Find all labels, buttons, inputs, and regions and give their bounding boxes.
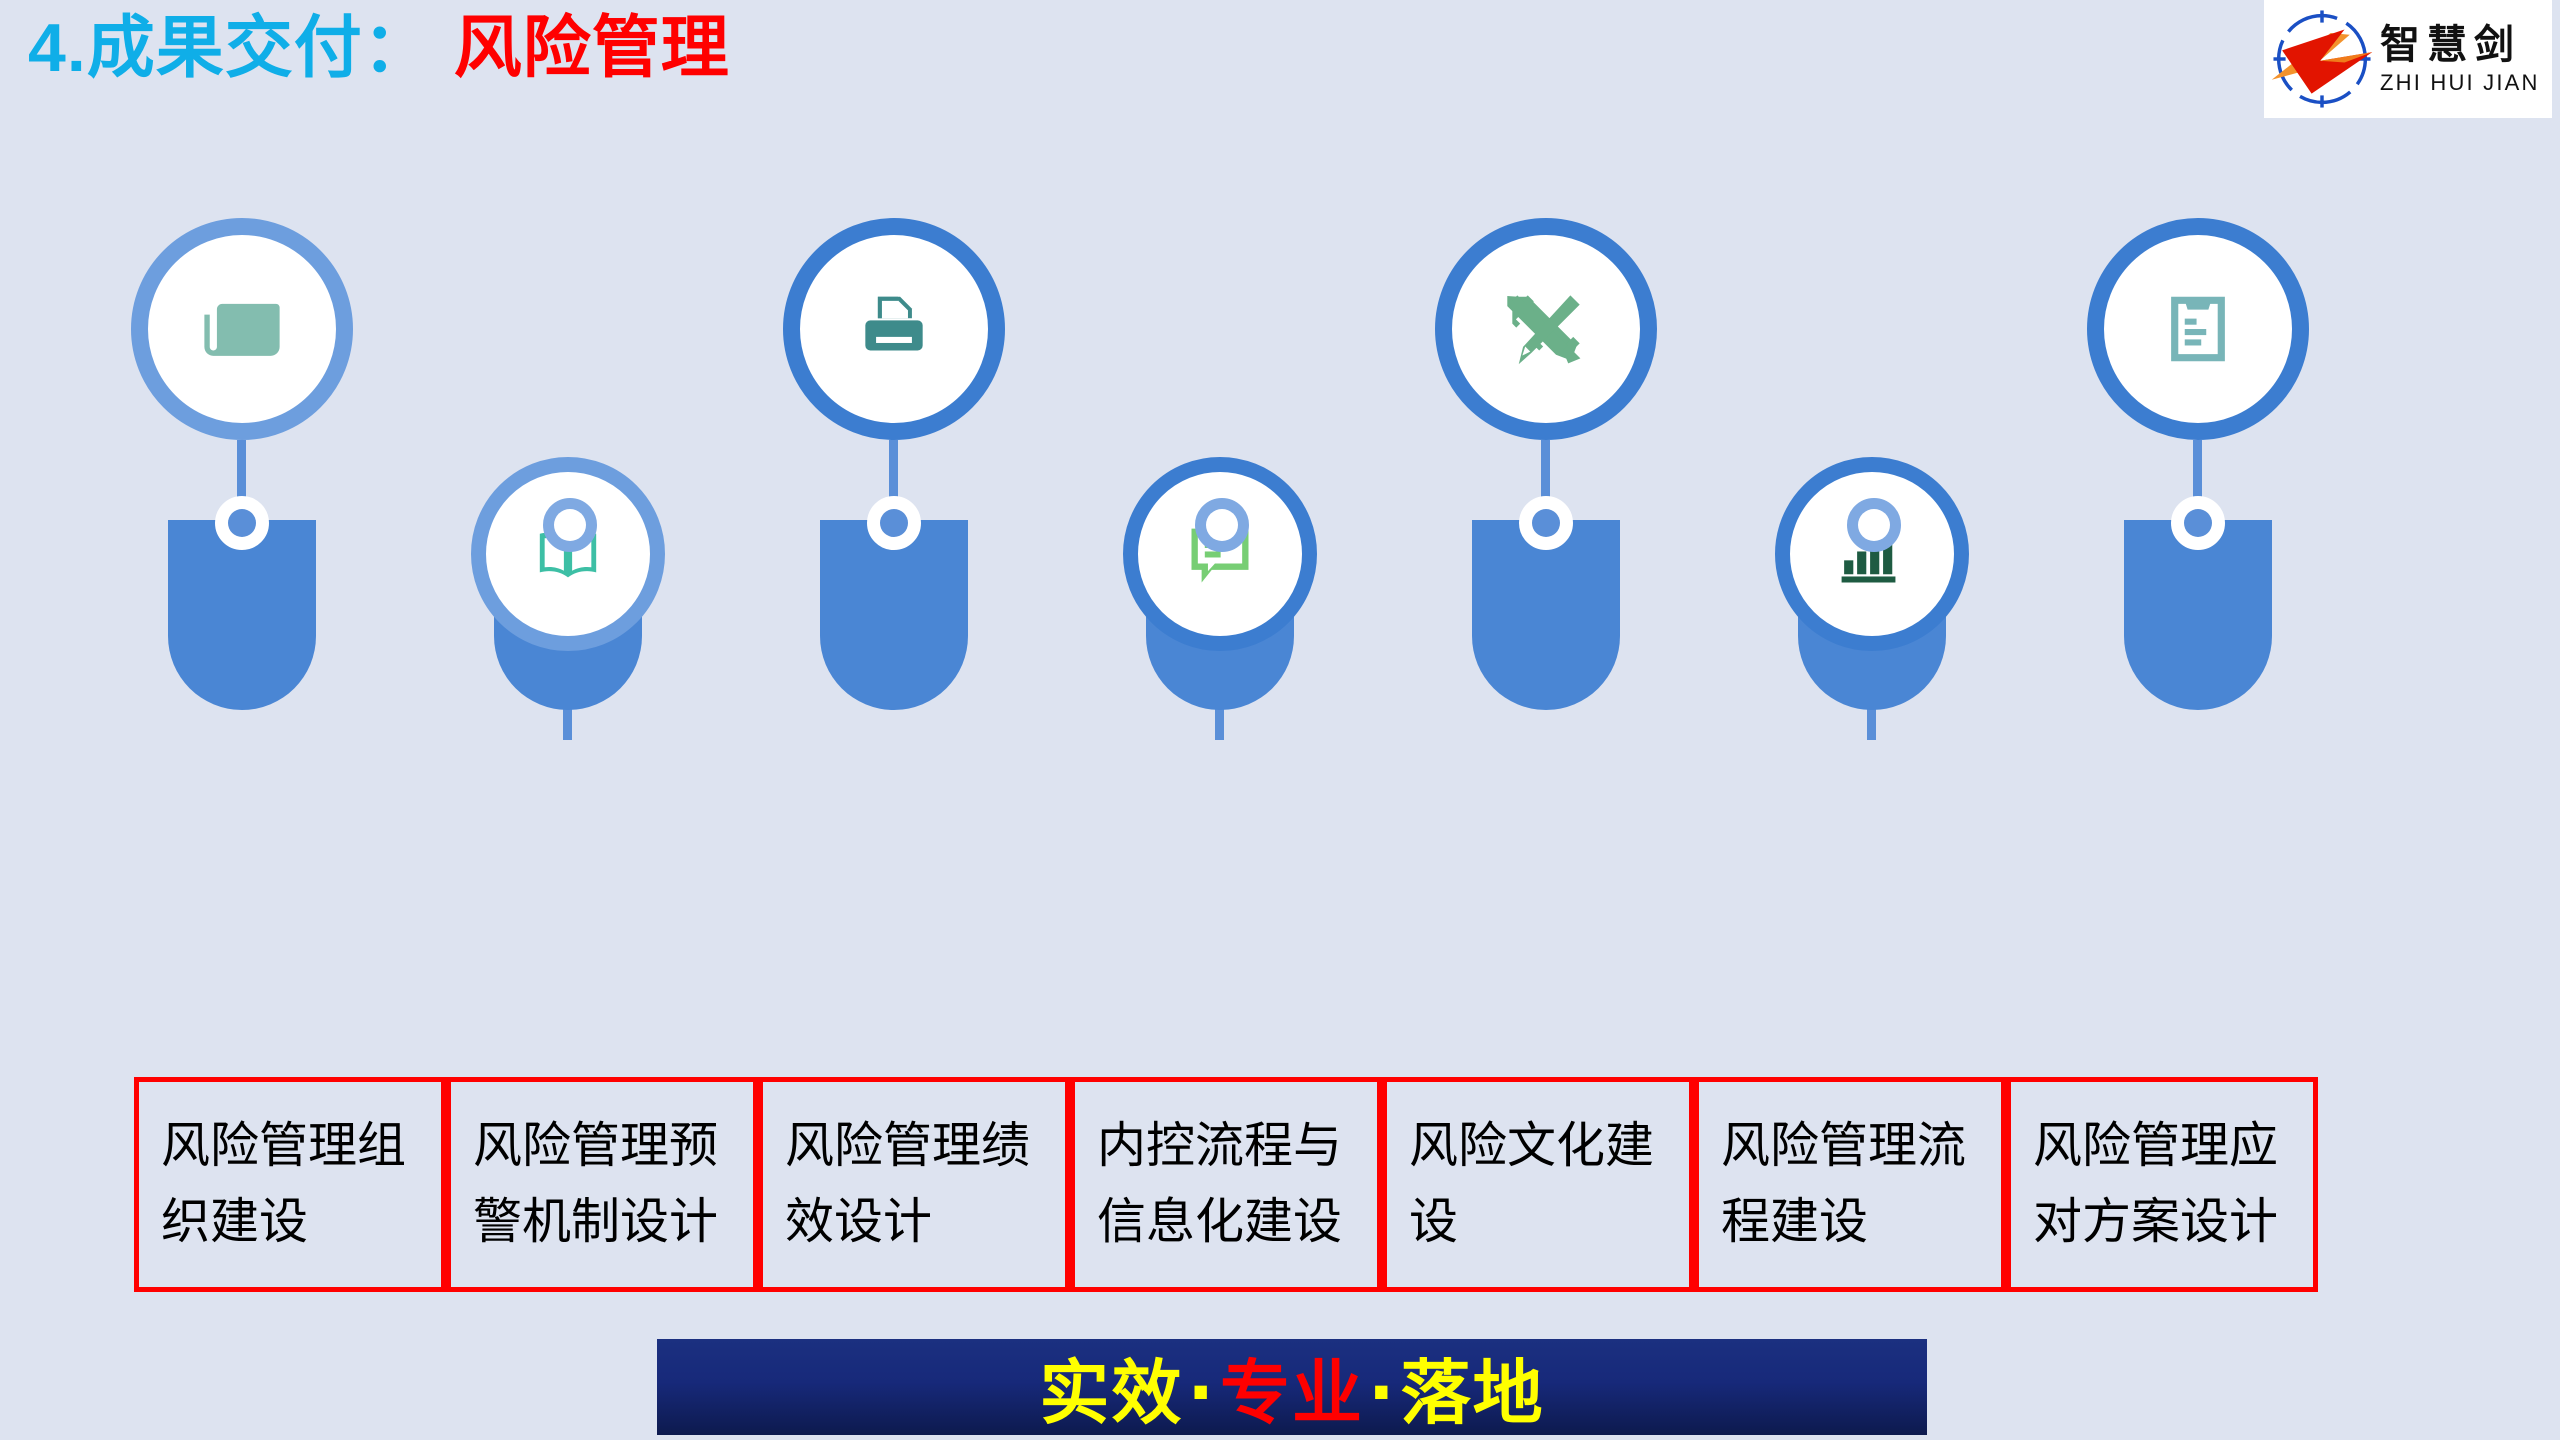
page-title-prefix: 4.成果交付： (28, 10, 432, 86)
node-bubble[interactable] (1775, 457, 1969, 651)
diagram-node-2[interactable] (438, 240, 698, 1060)
node-bubble[interactable] (783, 218, 1005, 440)
diagram-node-1[interactable] (112, 240, 372, 1060)
page-title: 4.成果交付：风险管理 (28, 6, 730, 91)
node-marker (2171, 496, 2225, 550)
label-cell-7: 风险管理应对方案设计 (2006, 1077, 2318, 1292)
footer-word-2: 专业 (1220, 1352, 1364, 1434)
logo-mark-icon (2270, 7, 2374, 111)
process-diagram (0, 240, 2560, 1060)
node-marker (1195, 498, 1249, 552)
ruler-pencil-icon (1503, 286, 1589, 372)
node-marker (1519, 496, 1573, 550)
logo-name-en: ZHI HUI JIAN (2380, 72, 2540, 94)
printer-icon (851, 286, 937, 372)
page-title-highlight: 风险管理 (454, 10, 730, 86)
node-marker (215, 496, 269, 550)
label-cell-3: 风险管理绩效设计 (758, 1077, 1070, 1292)
company-logo: 智慧剑 ZHI HUI JIAN (2264, 0, 2552, 118)
footer-word-3: 落地 (1401, 1352, 1545, 1434)
footer-separator-2: · (1368, 1352, 1397, 1434)
node-marker (867, 496, 921, 550)
node-bubble[interactable] (2087, 218, 2309, 440)
clipboard-icon (2155, 286, 2241, 372)
node-bubble[interactable] (1435, 218, 1657, 440)
diagram-node-5[interactable] (1416, 240, 1676, 1060)
diagram-node-6[interactable] (1742, 240, 2002, 1060)
footer-separator-1: · (1187, 1352, 1216, 1434)
node-bubble[interactable] (1123, 457, 1317, 651)
newspaper-icon (199, 286, 285, 372)
label-cell-4: 内控流程与信息化建设 (1070, 1077, 1382, 1292)
footer-word-1: 实效 (1039, 1352, 1183, 1434)
label-cell-5: 风险文化建设 (1382, 1077, 1694, 1292)
label-cell-2: 风险管理预警机制设计 (446, 1077, 758, 1292)
diagram-node-7[interactable] (2068, 240, 2328, 1060)
logo-name-cn: 智慧剑 (2380, 25, 2540, 65)
footer-banner: 实效·专业·落地 (657, 1339, 1927, 1435)
label-cell-1: 风险管理组织建设 (134, 1077, 446, 1292)
node-marker (543, 498, 597, 552)
label-table: 风险管理组织建设 风险管理预警机制设计 风险管理绩效设计 内控流程与信息化建设 … (134, 1077, 2318, 1292)
footer-slogan: 实效·专业·落地 (1039, 1337, 1544, 1438)
diagram-node-3[interactable] (764, 240, 1024, 1060)
diagram-node-4[interactable] (1090, 240, 1350, 1060)
node-bubble[interactable] (471, 457, 665, 651)
label-cell-6: 风险管理流程建设 (1694, 1077, 2006, 1292)
node-marker (1847, 498, 1901, 552)
node-bubble[interactable] (131, 218, 353, 440)
